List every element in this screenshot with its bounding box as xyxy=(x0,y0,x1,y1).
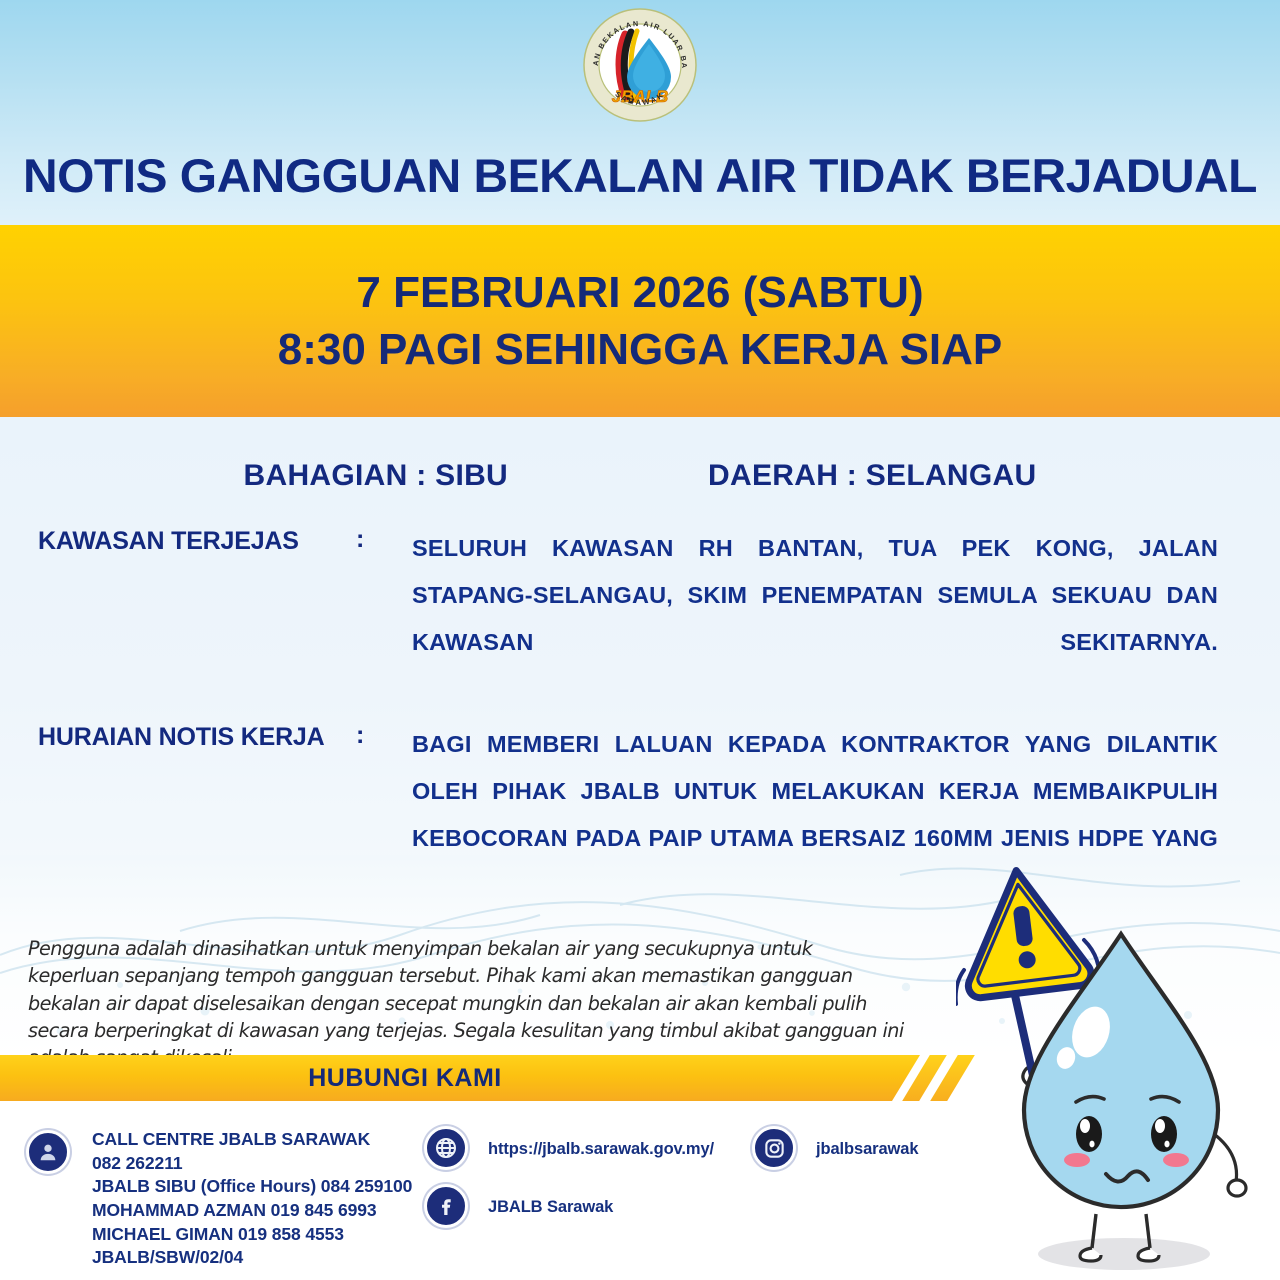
division-label: BAHAGIAN : SIBU xyxy=(244,459,509,493)
facebook-icon-glyph xyxy=(434,1194,458,1218)
contact-banner: HUBUNGI KAMI xyxy=(0,1055,920,1101)
globe-icon[interactable] xyxy=(424,1126,468,1170)
call-centre-title: CALL CENTRE JBALB SARAWAK xyxy=(92,1128,412,1152)
region-row: BAHAGIAN : SIBU DAERAH : SELANGAU xyxy=(0,459,1280,493)
affected-area-row: KAWASAN TERJEJAS : SELURUH KAWASAN RH BA… xyxy=(0,525,1280,713)
facebook-block[interactable]: JBALB Sarawak xyxy=(488,1196,613,1218)
contact-banner-label: HUBUNGI KAMI xyxy=(308,1064,502,1093)
person-icon xyxy=(26,1130,70,1174)
website-url[interactable]: https://jbalb.sarawak.gov.my/ xyxy=(488,1138,714,1160)
website-block[interactable]: https://jbalb.sarawak.gov.my/ xyxy=(488,1138,714,1160)
facebook-icon[interactable] xyxy=(424,1184,468,1228)
jbalb-logo-icon: JBALB JABATAN BEKALAN AIR LUAR BANDAR SA… xyxy=(581,6,699,124)
contact-person-azman[interactable]: MOHAMMAD AZMAN 019 845 6993 xyxy=(92,1199,412,1223)
work-notice-label: HURAIAN NOTIS KERJA xyxy=(38,721,356,752)
water-droplet-mascot xyxy=(956,862,1280,1280)
facebook-handle[interactable]: JBALB Sarawak xyxy=(488,1196,613,1218)
notice-body: BAHAGIAN : SIBU DAERAH : SELANGAU KAWASA… xyxy=(0,417,1280,917)
district-label: DAERAH : SELANGAU xyxy=(708,459,1036,493)
notice-reference-number: JBALB/SBW/02/04 xyxy=(92,1246,412,1270)
call-centre-phone[interactable]: 082 262211 xyxy=(92,1152,412,1176)
jbalb-sibu-phone[interactable]: JBALB SIBU (Office Hours) 084 259100 xyxy=(92,1175,412,1199)
person-icon-glyph xyxy=(37,1141,59,1163)
advisory-text: Pengguna adalah dinasihatkan untuk menyi… xyxy=(28,935,908,1071)
call-centre-block: CALL CENTRE JBALB SARAWAK 082 262211 JBA… xyxy=(92,1128,412,1270)
instagram-handle[interactable]: jbalbsarawak xyxy=(816,1138,918,1160)
affected-area-label: KAWASAN TERJEJAS xyxy=(38,525,356,556)
instagram-icon[interactable] xyxy=(752,1126,796,1170)
jbalb-logo: JBALB JABATAN BEKALAN AIR LUAR BANDAR SA… xyxy=(581,6,699,124)
affected-area-value: SELURUH KAWASAN RH BANTAN, TUA PEK KONG,… xyxy=(412,525,1218,713)
contact-person-michael[interactable]: MICHAEL GIMAN 019 858 4553 xyxy=(92,1223,412,1247)
work-notice-colon: : xyxy=(356,721,412,750)
instagram-icon-glyph xyxy=(763,1137,786,1160)
notice-date: 7 FEBRUARI 2026 (SABTU) xyxy=(356,267,923,318)
notice-time: 8:30 PAGI SEHINGGA KERJA SIAP xyxy=(278,324,1003,375)
notice-poster: JBALB JABATAN BEKALAN AIR LUAR BANDAR SA… xyxy=(0,0,1280,1280)
date-time-banner: 7 FEBRUARI 2026 (SABTU) 8:30 PAGI SEHING… xyxy=(0,225,1280,417)
globe-icon-glyph xyxy=(434,1136,458,1160)
page-title: NOTIS GANGGUAN BEKALAN AIR TIDAK BERJADU… xyxy=(0,148,1280,203)
instagram-block[interactable]: jbalbsarawak xyxy=(816,1138,918,1160)
affected-area-colon: : xyxy=(356,525,412,554)
water-droplet-mascot-icon xyxy=(956,862,1280,1280)
header-band: JBALB JABATAN BEKALAN AIR LUAR BANDAR SA… xyxy=(0,0,1280,225)
